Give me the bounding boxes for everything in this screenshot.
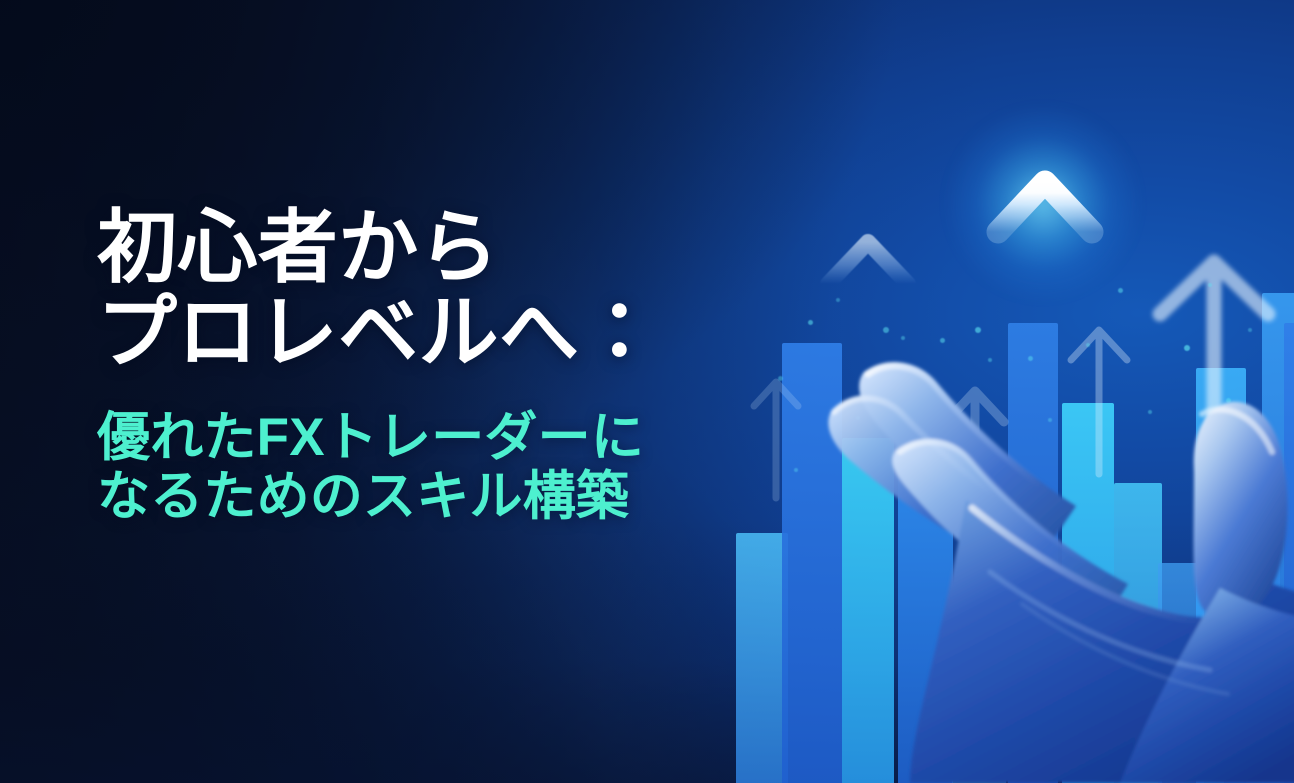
particle-dot bbox=[1086, 343, 1090, 347]
particle-dot bbox=[1248, 328, 1252, 332]
particle-dot bbox=[940, 338, 945, 343]
particle-dot bbox=[975, 327, 981, 333]
subheadline-line-1: 優れたFXトレーダーに bbox=[97, 408, 797, 467]
text-block: 初心者から プロレベルへ： 優れたFXトレーダーに なるためのスキル構築 bbox=[97, 206, 797, 526]
headline-line-2: プロレベルへ： bbox=[97, 291, 797, 376]
subheadline-line-2: なるためのスキル構築 bbox=[97, 467, 797, 526]
particle-dot bbox=[883, 327, 889, 333]
banner-root: 初心者から プロレベルへ： 優れたFXトレーダーに なるためのスキル構築 bbox=[0, 0, 1294, 783]
particle-dot bbox=[836, 298, 840, 302]
bar-1 bbox=[736, 533, 788, 783]
headline: 初心者から プロレベルへ： bbox=[97, 206, 797, 376]
open-hand-icon bbox=[790, 352, 1294, 783]
subheadline: 優れたFXトレーダーに なるためのスキル構築 bbox=[97, 408, 797, 527]
headline-line-1: 初心者から bbox=[97, 206, 797, 291]
particle-dot bbox=[808, 320, 813, 325]
particle-dot bbox=[1208, 283, 1212, 287]
particle-dot bbox=[1184, 345, 1190, 351]
particle-dot bbox=[901, 336, 905, 340]
particle-dot bbox=[1118, 288, 1123, 293]
